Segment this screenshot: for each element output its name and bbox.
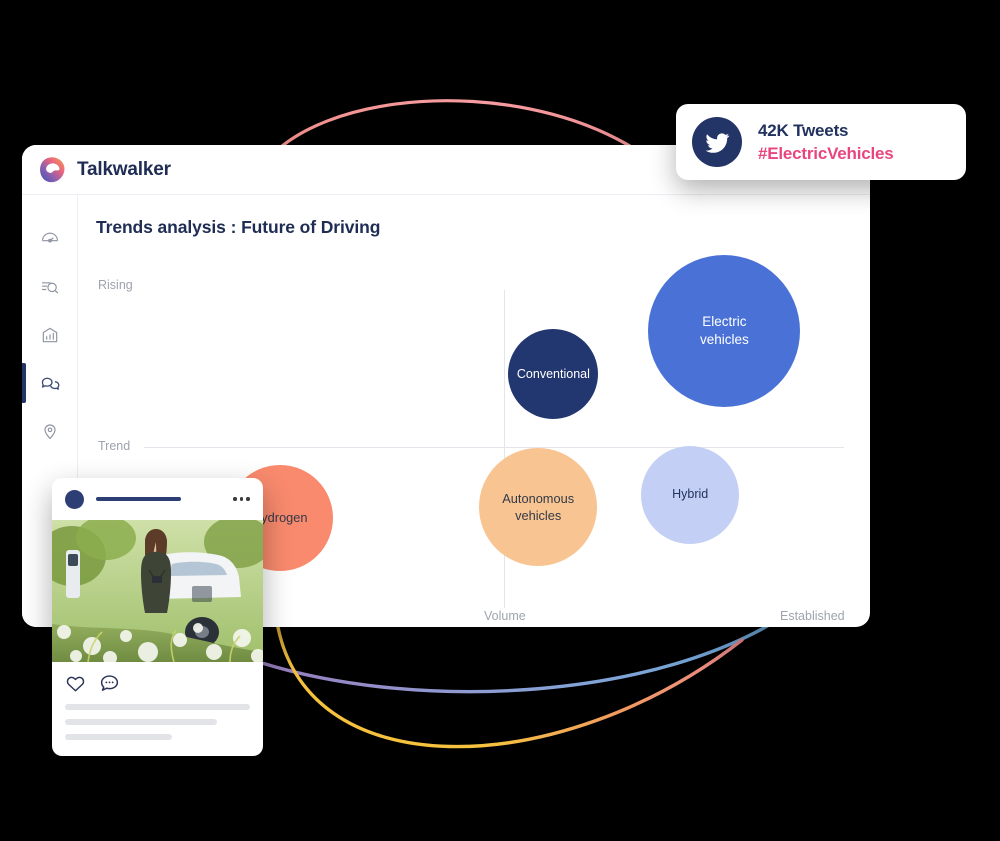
axis-label-rising: Rising xyxy=(98,278,133,292)
post-text-line xyxy=(65,734,172,740)
chart-bubble[interactable]: Autonomousvehicles xyxy=(479,448,597,566)
brand-name: Talkwalker xyxy=(77,159,171,181)
post-photo xyxy=(52,520,263,662)
post-header xyxy=(52,478,263,520)
sidebar-item-search[interactable] xyxy=(22,263,77,311)
tweet-stat-card[interactable]: 42K Tweets #ElectricVehicles xyxy=(676,104,966,180)
tweet-count: 42K Tweets xyxy=(758,121,894,141)
more-options-icon[interactable] xyxy=(233,497,250,501)
comment-bubble-icon[interactable] xyxy=(99,673,120,694)
post-text-line xyxy=(65,704,250,710)
social-post-card xyxy=(52,478,263,756)
chat-bubbles-icon xyxy=(39,373,60,394)
post-text-line xyxy=(65,719,217,725)
screenshot-root: Talkwalker xyxy=(0,0,1000,841)
post-username-placeholder xyxy=(96,497,181,501)
avatar[interactable] xyxy=(65,490,84,509)
sidebar-item-location[interactable] xyxy=(22,407,77,455)
chart-axis-horizontal xyxy=(144,447,844,448)
axis-label-established: Established xyxy=(780,609,845,623)
photo-illustration xyxy=(52,520,263,662)
chart-bubble-label: Hybrid xyxy=(672,486,708,503)
heart-icon[interactable] xyxy=(65,673,86,694)
tweet-hashtag[interactable]: #ElectricVehicles xyxy=(758,144,894,164)
dashboard-gauge-icon xyxy=(40,229,60,249)
chart-bubble-label: Conventional xyxy=(517,366,590,383)
chart-bubble[interactable]: Electricvehicles xyxy=(648,255,800,407)
bar-chart-icon xyxy=(40,325,60,345)
sidebar-item-analytics[interactable] xyxy=(22,311,77,359)
chart-bubble-label: Autonomousvehicles xyxy=(502,490,574,525)
post-actions xyxy=(52,662,263,700)
post-text-placeholder xyxy=(52,700,263,740)
twitter-avatar xyxy=(692,117,742,167)
sidebar-item-mentions[interactable] xyxy=(22,359,77,407)
location-pin-icon xyxy=(40,421,60,441)
chart-axis-vertical xyxy=(504,290,505,608)
talkwalker-logo-icon xyxy=(38,156,66,184)
axis-label-volume: Volume xyxy=(484,609,526,623)
twitter-bird-icon xyxy=(704,129,731,156)
chart-bubble[interactable]: Hybrid xyxy=(641,446,739,544)
chart-bubble[interactable]: Conventional xyxy=(508,329,598,419)
chart-bubble-label: Electricvehicles xyxy=(700,313,749,349)
page-title: Trends analysis : Future of Driving xyxy=(96,217,844,238)
tweet-stat-text: 42K Tweets #ElectricVehicles xyxy=(758,121,894,164)
axis-label-trend: Trend xyxy=(98,439,130,453)
search-icon xyxy=(40,277,60,297)
sidebar-item-dashboard[interactable] xyxy=(22,215,77,263)
